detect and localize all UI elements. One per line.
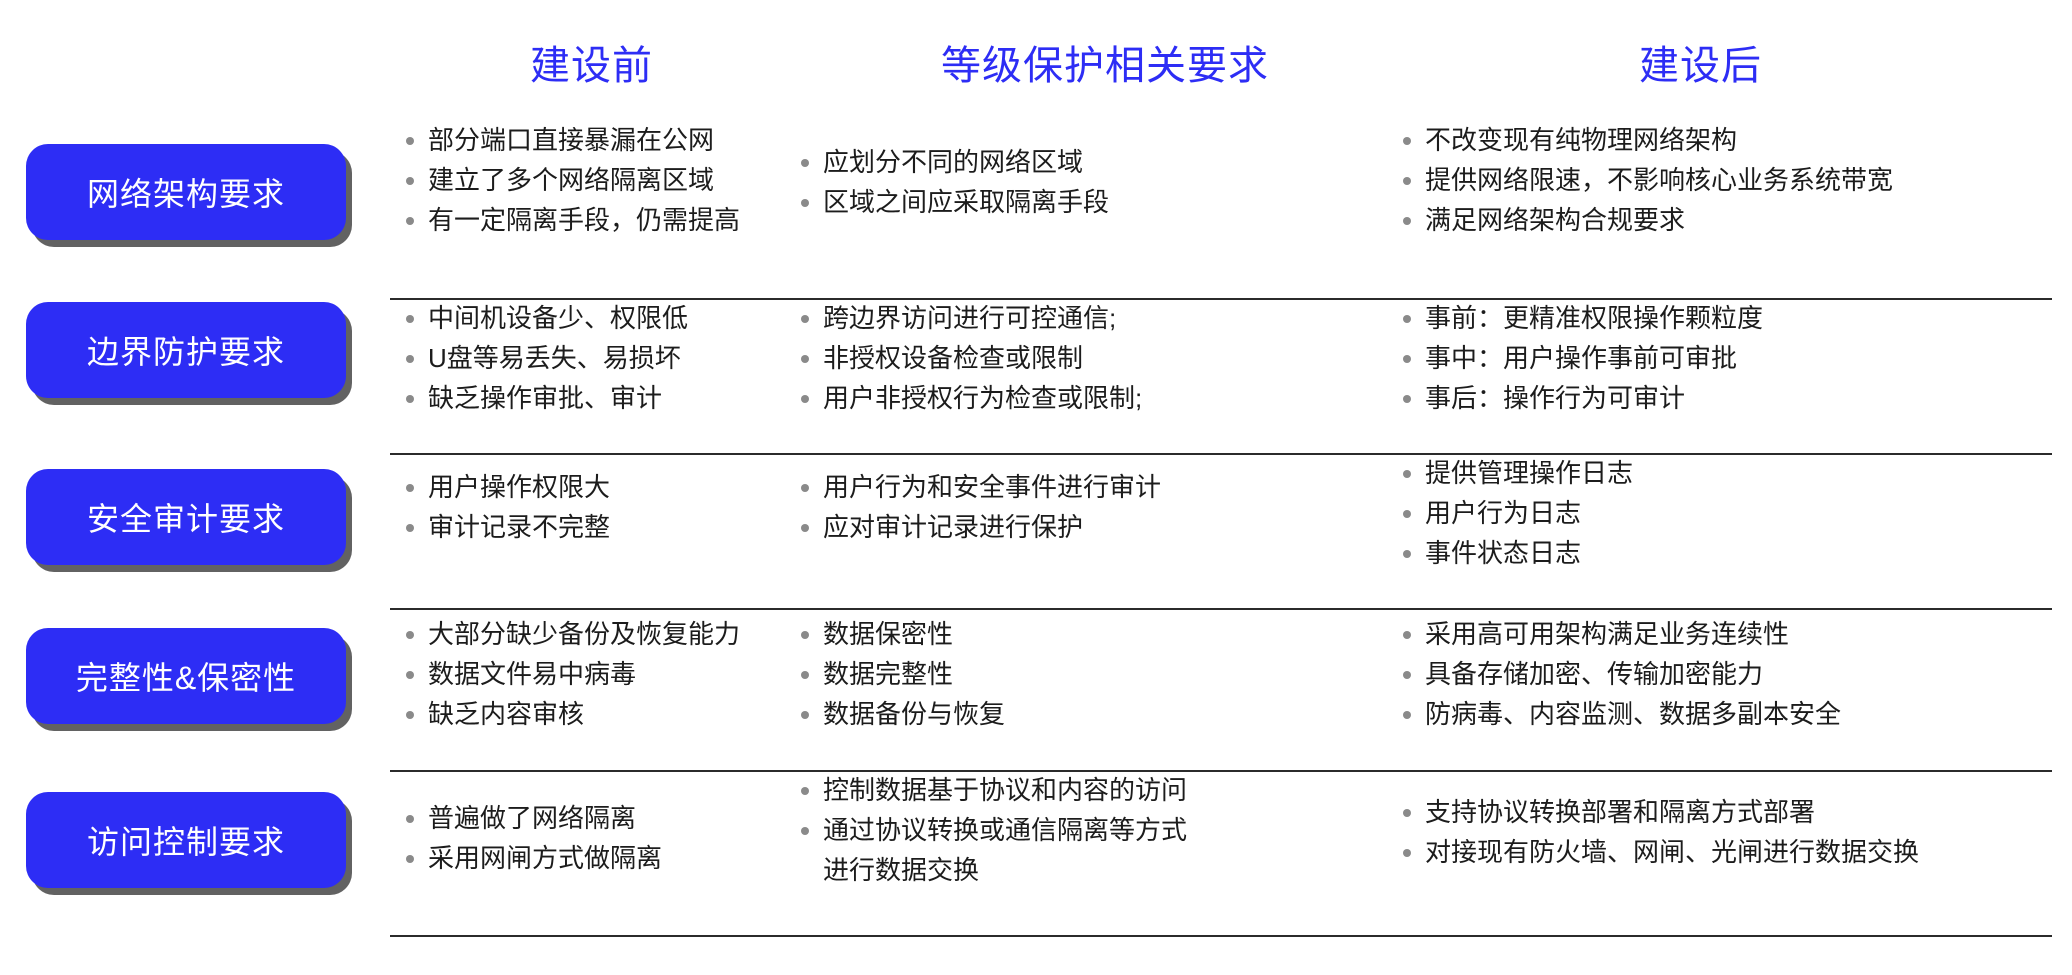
list-item: U盘等易丢失、易损坏 bbox=[400, 338, 757, 378]
bullet-list-before: 中间机设备少、权限低 U盘等易丢失、易损坏 缺乏操作审批、审计 bbox=[400, 298, 757, 418]
table-body: 网络架构要求 部分端口直接暴漏在公网 建立了多个网络隔离区域 有一定隔离手段，仍… bbox=[0, 140, 2072, 937]
column-header-requirement: 等级保护相关要求 bbox=[783, 46, 1405, 86]
list-item: 提供网络限速，不影响核心业务系统带宽 bbox=[1397, 160, 2056, 200]
list-item: 事前：更精准权限操作颗粒度 bbox=[1397, 298, 2056, 338]
list-item: 通过协议转换或通信隔离等方式 进行数据交换 bbox=[795, 810, 1357, 890]
bullet-list-requirement: 用户行为和安全事件进行审计 应对审计记录进行保护 bbox=[795, 467, 1357, 547]
bullet-list-requirement: 数据保密性 数据完整性 数据备份与恢复 bbox=[795, 614, 1357, 734]
table-row: 网络架构要求 部分端口直接暴漏在公网 建立了多个网络隔离区域 有一定隔离手段，仍… bbox=[0, 140, 2072, 300]
cell-before: 用户操作权限大 审计记录不完整 bbox=[390, 455, 773, 547]
cell-after: 不改变现有纯物理网络架构 提供网络限速，不影响核心业务系统带宽 满足网络架构合规… bbox=[1373, 140, 2072, 240]
table-row: 访问控制要求 普遍做了网络隔离 采用网闸方式做隔离 控制数据基于协议和内容的访问… bbox=[0, 772, 2072, 937]
table-row: 安全审计要求 用户操作权限大 审计记录不完整 用户行为和安全事件进行审计 应对审… bbox=[0, 455, 2072, 610]
list-item: 事后：操作行为可审计 bbox=[1397, 378, 2056, 418]
bullet-list-after: 提供管理操作日志 用户行为日志 事件状态日志 bbox=[1397, 453, 2056, 573]
table-row: 完整性&保密性 大部分缺少备份及恢复能力 数据文件易中病毒 缺乏内容审核 数据保… bbox=[0, 610, 2072, 772]
row-label-pill-boundary-protection[interactable]: 边界防护要求 bbox=[26, 302, 346, 398]
list-item: 数据备份与恢复 bbox=[795, 694, 1357, 734]
list-item: 对接现有防火墙、网闸、光闸进行数据交换 bbox=[1397, 832, 2056, 872]
list-item: 不改变现有纯物理网络架构 bbox=[1397, 120, 2056, 160]
cell-before: 普遍做了网络隔离 采用网闸方式做隔离 bbox=[390, 772, 773, 878]
column-header-after: 建设后 bbox=[1405, 46, 2072, 86]
list-item: 用户行为和安全事件进行审计 bbox=[795, 467, 1357, 507]
list-item: 支持协议转换部署和隔离方式部署 bbox=[1397, 792, 2056, 832]
bullet-list-before: 部分端口直接暴漏在公网 建立了多个网络隔离区域 有一定隔离手段，仍需提高 bbox=[400, 120, 757, 240]
row-label-text: 访问控制要求 bbox=[87, 817, 285, 863]
list-item: 数据文件易中病毒 bbox=[400, 654, 757, 694]
list-item: 防病毒、内容监测、数据多副本安全 bbox=[1397, 694, 2056, 734]
row-label-text: 完整性&保密性 bbox=[76, 653, 296, 699]
list-item: 缺乏操作审批、审计 bbox=[400, 378, 757, 418]
list-item: 事中：用户操作事前可审批 bbox=[1397, 338, 2056, 378]
list-item: 采用网闸方式做隔离 bbox=[400, 838, 757, 878]
row-separator bbox=[390, 935, 2052, 937]
list-item: 提供管理操作日志 bbox=[1397, 453, 2056, 493]
cell-requirement: 控制数据基于协议和内容的访问 通过协议转换或通信隔离等方式 进行数据交换 bbox=[773, 772, 1373, 890]
cell-before: 部分端口直接暴漏在公网 建立了多个网络隔离区域 有一定隔离手段，仍需提高 bbox=[390, 140, 773, 240]
bullet-list-after: 支持协议转换部署和隔离方式部署 对接现有防火墙、网闸、光闸进行数据交换 bbox=[1397, 792, 2056, 872]
bullet-list-after: 不改变现有纯物理网络架构 提供网络限速，不影响核心业务系统带宽 满足网络架构合规… bbox=[1397, 120, 2056, 240]
table-row: 边界防护要求 中间机设备少、权限低 U盘等易丢失、易损坏 缺乏操作审批、审计 跨… bbox=[0, 300, 2072, 455]
cell-requirement: 跨边界访问进行可控通信; 非授权设备检查或限制 用户非授权行为检查或限制; bbox=[773, 300, 1373, 418]
list-item: 中间机设备少、权限低 bbox=[400, 298, 757, 338]
cell-requirement: 数据保密性 数据完整性 数据备份与恢复 bbox=[773, 610, 1373, 734]
row-label-cell: 访问控制要求 bbox=[0, 772, 390, 888]
row-label-text: 安全审计要求 bbox=[87, 494, 285, 540]
comparison-table-slide: 建设前 等级保护相关要求 建设后 网络架构要求 部分端口直接暴漏在公网 建立了多… bbox=[0, 0, 2072, 975]
list-item: 应对审计记录进行保护 bbox=[795, 507, 1357, 547]
bullet-list-before: 大部分缺少备份及恢复能力 数据文件易中病毒 缺乏内容审核 bbox=[400, 614, 757, 734]
row-label-cell: 完整性&保密性 bbox=[0, 610, 390, 724]
list-item: 建立了多个网络隔离区域 bbox=[400, 160, 757, 200]
bullet-list-requirement: 应划分不同的网络区域 区域之间应采取隔离手段 bbox=[795, 142, 1357, 222]
cell-after: 支持协议转换部署和隔离方式部署 对接现有防火墙、网闸、光闸进行数据交换 bbox=[1373, 772, 2072, 872]
list-item: 数据完整性 bbox=[795, 654, 1357, 694]
list-item: 跨边界访问进行可控通信; bbox=[795, 298, 1357, 338]
row-label-cell: 边界防护要求 bbox=[0, 300, 390, 398]
bullet-list-requirement: 控制数据基于协议和内容的访问 通过协议转换或通信隔离等方式 进行数据交换 bbox=[795, 770, 1357, 890]
table-header-row: 建设前 等级保护相关要求 建设后 bbox=[0, 30, 2072, 102]
row-label-text: 边界防护要求 bbox=[87, 327, 285, 373]
cell-after: 采用高可用架构满足业务连续性 具备存储加密、传输加密能力 防病毒、内容监测、数据… bbox=[1373, 610, 2072, 734]
column-header-before: 建设前 bbox=[390, 46, 783, 86]
bullet-list-before: 用户操作权限大 审计记录不完整 bbox=[400, 467, 757, 547]
list-item: 部分端口直接暴漏在公网 bbox=[400, 120, 757, 160]
list-item: 审计记录不完整 bbox=[400, 507, 757, 547]
list-item: 用户操作权限大 bbox=[400, 467, 757, 507]
list-item: 用户行为日志 bbox=[1397, 493, 2056, 533]
row-label-text: 网络架构要求 bbox=[87, 169, 285, 215]
bullet-list-requirement: 跨边界访问进行可控通信; 非授权设备检查或限制 用户非授权行为检查或限制; bbox=[795, 298, 1357, 418]
list-item: 事件状态日志 bbox=[1397, 533, 2056, 573]
row-label-cell: 安全审计要求 bbox=[0, 455, 390, 565]
list-item: 数据保密性 bbox=[795, 614, 1357, 654]
bullet-list-after: 采用高可用架构满足业务连续性 具备存储加密、传输加密能力 防病毒、内容监测、数据… bbox=[1397, 614, 2056, 734]
list-item: 用户非授权行为检查或限制; bbox=[795, 378, 1357, 418]
list-item: 具备存储加密、传输加密能力 bbox=[1397, 654, 2056, 694]
list-item: 满足网络架构合规要求 bbox=[1397, 200, 2056, 240]
cell-requirement: 应划分不同的网络区域 区域之间应采取隔离手段 bbox=[773, 140, 1373, 222]
cell-before: 中间机设备少、权限低 U盘等易丢失、易损坏 缺乏操作审批、审计 bbox=[390, 300, 773, 418]
list-item: 区域之间应采取隔离手段 bbox=[795, 182, 1357, 222]
list-item: 控制数据基于协议和内容的访问 bbox=[795, 770, 1357, 810]
cell-after: 事前：更精准权限操作颗粒度 事中：用户操作事前可审批 事后：操作行为可审计 bbox=[1373, 300, 2072, 418]
cell-before: 大部分缺少备份及恢复能力 数据文件易中病毒 缺乏内容审核 bbox=[390, 610, 773, 734]
bullet-list-after: 事前：更精准权限操作颗粒度 事中：用户操作事前可审批 事后：操作行为可审计 bbox=[1397, 298, 2056, 418]
row-label-pill-access-control[interactable]: 访问控制要求 bbox=[26, 792, 346, 888]
list-item: 缺乏内容审核 bbox=[400, 694, 757, 734]
list-item: 大部分缺少备份及恢复能力 bbox=[400, 614, 757, 654]
list-item: 有一定隔离手段，仍需提高 bbox=[400, 200, 757, 240]
cell-after: 提供管理操作日志 用户行为日志 事件状态日志 bbox=[1373, 455, 2072, 573]
cell-requirement: 用户行为和安全事件进行审计 应对审计记录进行保护 bbox=[773, 455, 1373, 547]
row-label-cell: 网络架构要求 bbox=[0, 140, 390, 240]
list-item: 非授权设备检查或限制 bbox=[795, 338, 1357, 378]
list-item: 应划分不同的网络区域 bbox=[795, 142, 1357, 182]
row-label-pill-security-audit[interactable]: 安全审计要求 bbox=[26, 469, 346, 565]
row-label-pill-integrity-confidentiality[interactable]: 完整性&保密性 bbox=[26, 628, 346, 724]
row-label-pill-network-architecture[interactable]: 网络架构要求 bbox=[26, 144, 346, 240]
list-item: 采用高可用架构满足业务连续性 bbox=[1397, 614, 2056, 654]
bullet-list-before: 普遍做了网络隔离 采用网闸方式做隔离 bbox=[400, 798, 757, 878]
list-item: 普遍做了网络隔离 bbox=[400, 798, 757, 838]
